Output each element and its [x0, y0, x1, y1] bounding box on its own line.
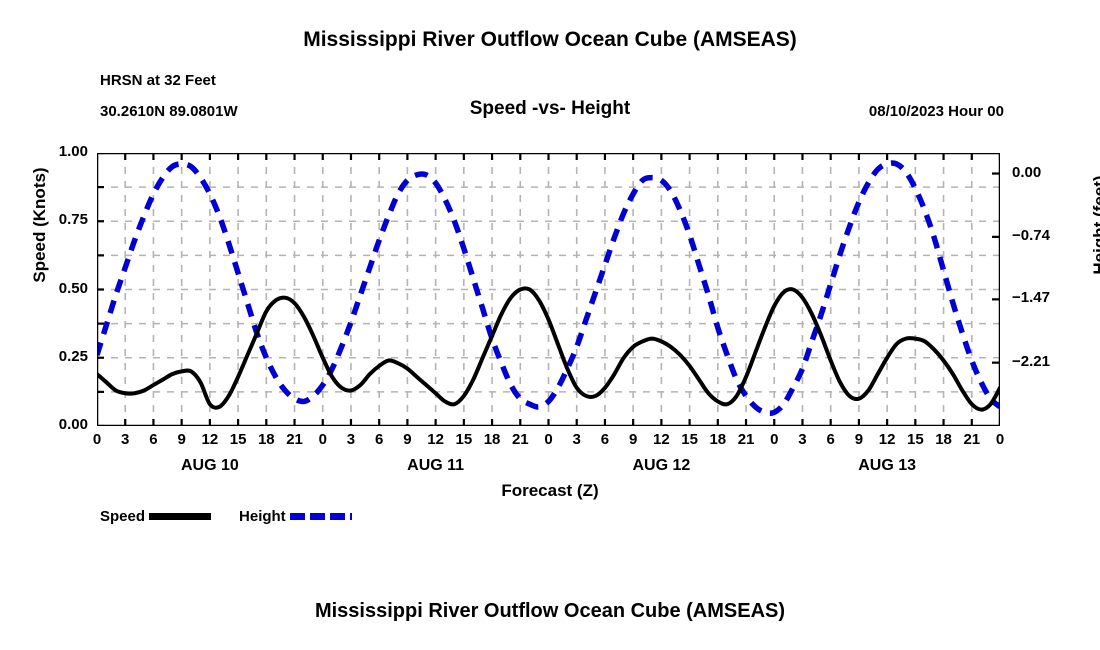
legend-item-speed: Speed [100, 508, 211, 525]
x-tick-10: 6 [364, 431, 394, 448]
x-tick-8: 0 [308, 431, 338, 448]
day-label-3: AUG 13 [817, 457, 957, 475]
x-tick-19: 9 [618, 431, 648, 448]
x-tick-28: 12 [872, 431, 902, 448]
chart-legend: Speed Height [100, 508, 352, 525]
x-tick-3: 9 [167, 431, 197, 448]
x-tick-29: 15 [900, 431, 930, 448]
x-tick-0: 0 [82, 431, 112, 448]
footer-title: Mississippi River Outflow Ocean Cube (AM… [0, 600, 1100, 623]
x-tick-24: 0 [759, 431, 789, 448]
y-axis-left-label: Speed (Knots) [30, 125, 50, 325]
x-tick-23: 21 [731, 431, 761, 448]
x-tick-27: 9 [844, 431, 874, 448]
x-tick-22: 18 [703, 431, 733, 448]
legend-swatch-speed [149, 513, 211, 520]
y-tick-left-3: 0.75 [59, 211, 88, 228]
legend-label-speed: Speed [100, 508, 145, 525]
x-tick-31: 21 [957, 431, 987, 448]
y-tick-right-2: −0.74 [1012, 227, 1050, 244]
x-tick-9: 3 [336, 431, 366, 448]
day-label-0: AUG 10 [140, 457, 280, 475]
day-label-2: AUG 12 [591, 457, 731, 475]
y-axis-right-label: Height (feet) [1090, 125, 1100, 325]
x-axis-label: Forecast (Z) [0, 481, 1100, 501]
x-tick-30: 18 [929, 431, 959, 448]
x-tick-16: 0 [534, 431, 564, 448]
x-tick-11: 9 [392, 431, 422, 448]
y-tick-right-1: −1.47 [1012, 289, 1050, 306]
y-tick-right-3: 0.00 [1012, 164, 1041, 181]
forecast-datestamp: 08/10/2023 Hour 00 [869, 103, 1004, 120]
day-label-1: AUG 11 [366, 457, 506, 475]
legend-swatch-height [290, 513, 352, 520]
x-tick-4: 12 [195, 431, 225, 448]
x-tick-13: 15 [449, 431, 479, 448]
x-tick-14: 18 [477, 431, 507, 448]
x-tick-20: 12 [646, 431, 676, 448]
y-tick-right-0: −2.21 [1012, 353, 1050, 370]
x-tick-6: 18 [251, 431, 281, 448]
x-tick-12: 12 [421, 431, 451, 448]
legend-label-height: Height [239, 508, 286, 525]
x-tick-18: 6 [590, 431, 620, 448]
x-tick-25: 3 [787, 431, 817, 448]
x-tick-21: 15 [675, 431, 705, 448]
station-label: HRSN at 32 Feet [100, 72, 216, 89]
chart-plot-area [97, 153, 1000, 426]
x-tick-15: 21 [505, 431, 535, 448]
x-tick-5: 15 [223, 431, 253, 448]
x-tick-7: 21 [280, 431, 310, 448]
x-tick-1: 3 [110, 431, 140, 448]
legend-item-height: Height [239, 508, 352, 525]
y-tick-left-2: 0.50 [59, 280, 88, 297]
page-title: Mississippi River Outflow Ocean Cube (AM… [0, 28, 1100, 52]
y-tick-left-1: 0.25 [59, 348, 88, 365]
x-tick-2: 6 [138, 431, 168, 448]
x-tick-32: 0 [985, 431, 1015, 448]
x-tick-17: 3 [562, 431, 592, 448]
y-tick-left-4: 1.00 [59, 143, 88, 160]
x-tick-26: 6 [816, 431, 846, 448]
